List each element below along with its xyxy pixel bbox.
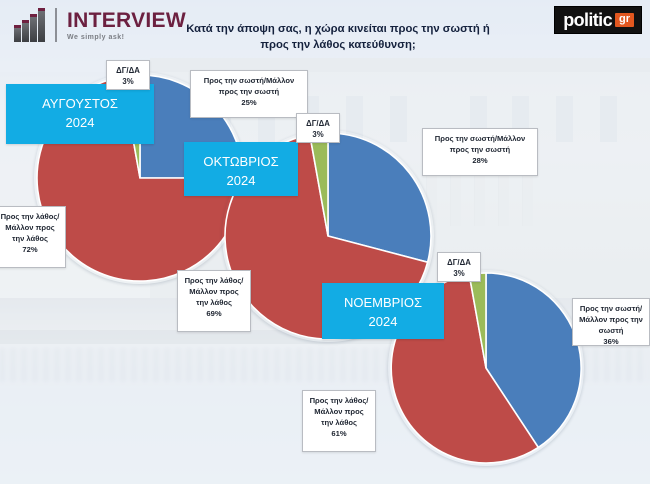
- poll-infographic: INTERVIEW We simply ask! Κατά την άποψη …: [0, 0, 650, 484]
- callout-august-wrong-direction: Προς την λάθος/Μάλλον προς την λάθος 72%: [0, 206, 66, 268]
- month-badge-august-month: ΑΥΓΟΥΣΤΟΣ: [42, 96, 118, 111]
- callout-november-dk-value: 3%: [453, 269, 464, 278]
- callout-october-dk-value: 3%: [312, 130, 323, 139]
- politic-gr-logo: politic gr: [554, 6, 642, 34]
- callout-october-wrong-value: 69%: [206, 309, 221, 318]
- logo-tagline: We simply ask!: [67, 34, 186, 41]
- callout-november-right-direction: Προς την σωστή/Μάλλον προς την σωστή 36%: [572, 298, 650, 346]
- callout-october-right-direction: Προς την σωστή/Μάλλον προς την σωστή 28%: [422, 128, 538, 176]
- callout-october-wrong-direction: Προς την λάθος/Μάλλον προς την λάθος 69%: [177, 270, 251, 332]
- month-badge-november-month: ΝΟΕΜΒΡΙΟΣ: [344, 295, 422, 310]
- callout-november-dont-know: ΔΓ/ΔΑ 3%: [437, 252, 481, 282]
- callout-november-right-value: 36%: [603, 337, 618, 346]
- callout-november-right-label: Προς την σωστή/Μάλλον προς την σωστή: [579, 304, 643, 335]
- logo-wordmark: INTERVIEW We simply ask!: [67, 10, 186, 41]
- callout-august-dk-value: 3%: [122, 77, 133, 86]
- callout-august-wrong-label: Προς την λάθος/Μάλλον προς την λάθος: [1, 212, 60, 243]
- callout-november-wrong-label: Προς την λάθος/Μάλλον προς την λάθος: [310, 396, 369, 427]
- callout-october-right-label: Προς την σωστή/Μάλλον προς την σωστή: [435, 134, 525, 154]
- header: INTERVIEW We simply ask! Κατά την άποψη …: [0, 0, 650, 56]
- callout-august-right-direction: Προς την σωστή/Μάλλον προς την σωστή 25%: [190, 70, 308, 118]
- interview-logo: INTERVIEW We simply ask!: [14, 8, 186, 42]
- month-badge-october: ΟΚΤΩΒΡΙΟΣ 2024: [184, 142, 298, 196]
- politic-wordmark: politic: [563, 11, 612, 29]
- callout-august-wrong-value: 72%: [22, 245, 37, 254]
- month-badge-august: ΑΥΓΟΥΣΤΟΣ 2024: [6, 84, 154, 144]
- politic-gr-badge: gr: [615, 13, 634, 27]
- callout-november-wrong-direction: Προς την λάθος/Μάλλον προς την λάθος 61%: [302, 390, 376, 452]
- logo-divider: [55, 8, 57, 42]
- logo-name: INTERVIEW: [67, 10, 186, 31]
- month-badge-october-month: ΟΚΤΩΒΡΙΟΣ: [203, 154, 278, 169]
- callout-november-wrong-value: 61%: [331, 429, 346, 438]
- month-badge-august-year: 2024: [12, 114, 148, 133]
- callout-august-right-label: Προς την σωστή/Μάλλον προς την σωστή: [204, 76, 294, 96]
- callout-october-dont-know: ΔΓ/ΔΑ 3%: [296, 113, 340, 143]
- month-badge-october-year: 2024: [190, 172, 292, 191]
- callout-october-right-value: 28%: [472, 156, 487, 165]
- callout-october-dk-label: ΔΓ/ΔΑ: [306, 119, 330, 128]
- callout-november-dk-label: ΔΓ/ΔΑ: [447, 258, 471, 267]
- callout-august-dont-know: ΔΓ/ΔΑ 3%: [106, 60, 150, 90]
- callout-october-wrong-label: Προς την λάθος/Μάλλον προς την λάθος: [185, 276, 244, 307]
- bar-chart-logo-icon: [14, 8, 45, 42]
- month-badge-november: ΝΟΕΜΒΡΙΟΣ 2024: [322, 283, 444, 339]
- callout-august-right-value: 25%: [241, 98, 256, 107]
- page-title: Κατά την άποψη σας, η χώρα κινείται προς…: [178, 21, 498, 53]
- callout-august-dk-label: ΔΓ/ΔΑ: [116, 66, 140, 75]
- month-badge-november-year: 2024: [328, 313, 438, 332]
